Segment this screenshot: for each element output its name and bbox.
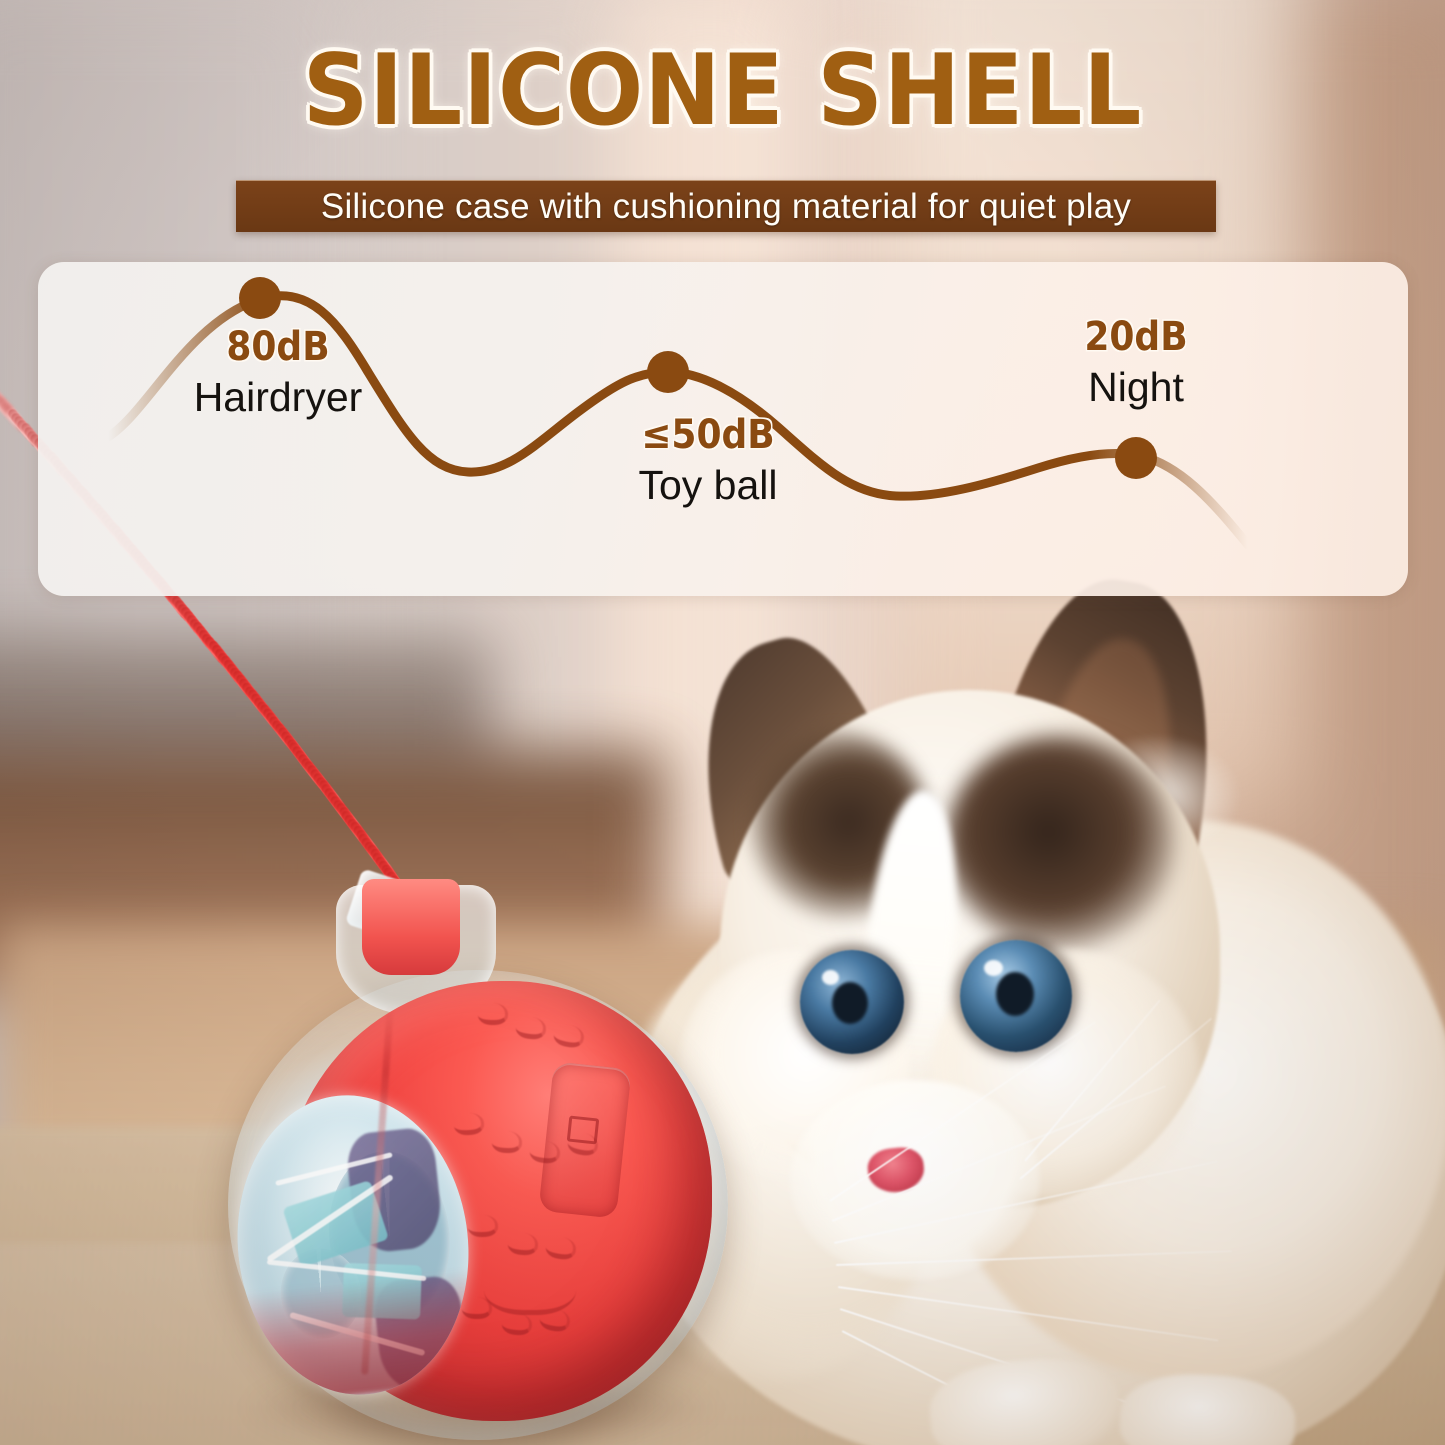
noise-point-night [1115,437,1157,479]
noise-db-night: 20dB [1010,314,1262,360]
noise-label-night: 20dB Night [996,314,1276,411]
noise-name-hairdryer: Hairdryer [133,374,423,421]
noise-db-hairdryer: 80dB [148,324,409,370]
page-title: SILICONE SHELL [51,0,1395,140]
subtitle-text: Silicone case with cushioning material f… [321,187,1131,227]
noise-point-toyball [647,351,689,393]
noise-name-night: Night [996,364,1276,411]
noise-name-toyball: Toy ball [563,462,853,509]
noise-comparison-card: 80dB Hairdryer ≤50dB Toy ball 20dB Night [38,262,1408,596]
subtitle-banner: Silicone case with cushioning material f… [236,180,1216,232]
noise-label-toyball: ≤50dB Toy ball [563,412,853,509]
noise-label-hairdryer: 80dB Hairdryer [133,324,423,421]
noise-point-hairdryer [239,277,281,319]
header: SILICONE SHELL Silicone case with cushio… [0,0,1445,140]
noise-db-toyball: ≤50dB [578,412,839,458]
